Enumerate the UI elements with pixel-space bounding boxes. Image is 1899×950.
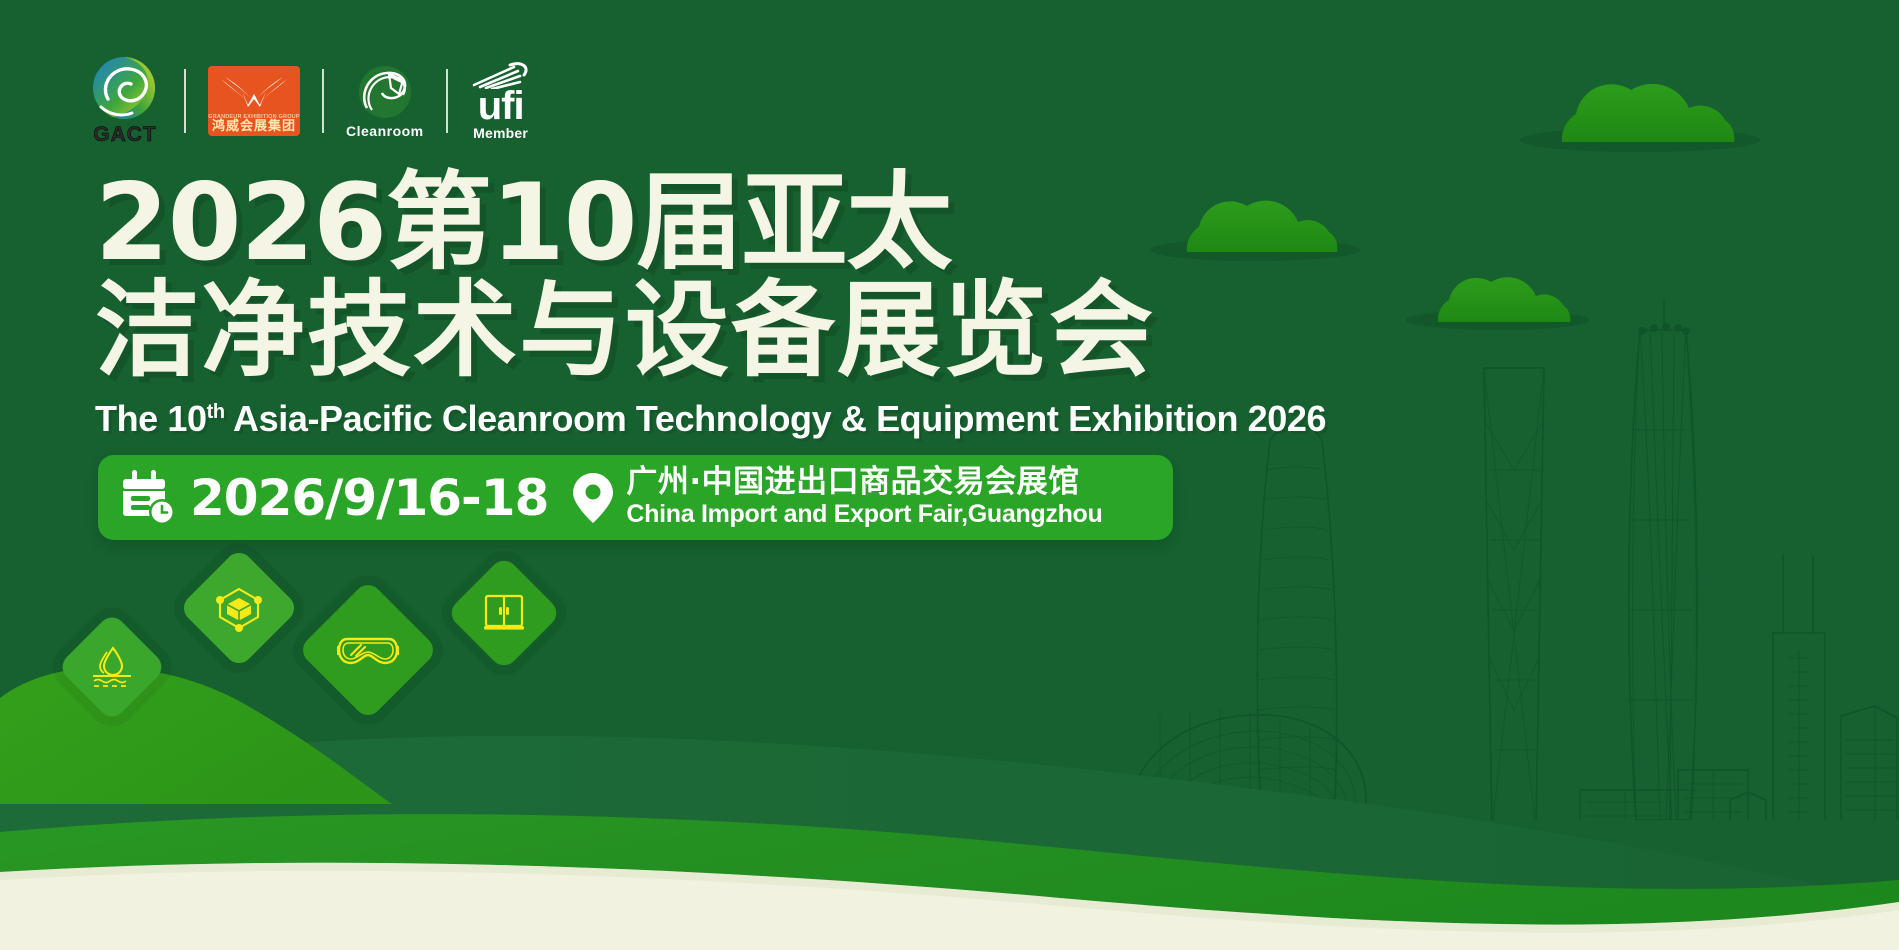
ufi-member-label: Member xyxy=(473,125,528,141)
ufi-logo: ufi Member xyxy=(470,61,532,140)
gact-sphere-icon xyxy=(88,55,162,125)
title-line-2: 洁净技术与设备展览会 xyxy=(95,277,1275,384)
english-subtitle-ordinal: th xyxy=(207,401,225,423)
title-line-1: 2026第10届亚太 xyxy=(95,168,1275,277)
map-pin-icon xyxy=(572,472,614,524)
logo-divider-1 xyxy=(184,69,186,133)
cabinet-icon xyxy=(481,592,527,634)
grandeur-wings-icon xyxy=(217,75,291,109)
gact-wordmark: GACT xyxy=(93,123,157,147)
event-location-cn: 广州·中国进出口商品交易会展馆 xyxy=(626,467,1102,499)
protective-goggles-icon xyxy=(337,627,399,673)
logo-strip: GACT GRANDEUR EXHIBITION GROUP 鸿威会展集团 xyxy=(88,55,532,147)
event-location-block: 广州·中国进出口商品交易会展馆 China Import and Export … xyxy=(626,467,1102,527)
cleanroom-swirl-icon xyxy=(353,64,417,122)
3d-cube-node-icon xyxy=(214,583,264,633)
logo-divider-3 xyxy=(446,69,448,133)
event-info-pill: 2026/9/16-18 广州·中国进出口商品交易会展馆 China Impor… xyxy=(98,455,1173,540)
ufi-wordmark: ufi xyxy=(478,89,524,124)
water-drop-waves-icon xyxy=(89,644,135,690)
grandeur-chinese: 鸿威会展集团 xyxy=(208,115,300,134)
gact-logo: GACT xyxy=(88,55,162,147)
grandeur-exhibition-group-logo: GRANDEUR EXHIBITION GROUP 鸿威会展集团 xyxy=(208,66,300,136)
cleanroom-wordmark: Cleanroom xyxy=(346,123,424,139)
english-subtitle: The 10th Asia-Pacific Cleanroom Technolo… xyxy=(95,398,1326,440)
event-location-en: China Import and Export Fair,Guangzhou xyxy=(626,502,1102,528)
exhibition-banner: GACT GRANDEUR EXHIBITION GROUP 鸿威会展集团 xyxy=(0,0,1899,950)
headline-block: 2026第10届亚太 洁净技术与设备展览会 xyxy=(95,168,1275,384)
english-subtitle-prefix: The 10 xyxy=(95,398,207,439)
logo-divider-2 xyxy=(322,69,324,133)
english-subtitle-rest: Asia-Pacific Cleanroom Technology & Equi… xyxy=(225,398,1326,439)
cleanroom-logo: Cleanroom xyxy=(346,64,424,139)
calendar-clock-icon xyxy=(120,470,176,526)
event-date: 2026/9/16-18 xyxy=(190,469,548,527)
